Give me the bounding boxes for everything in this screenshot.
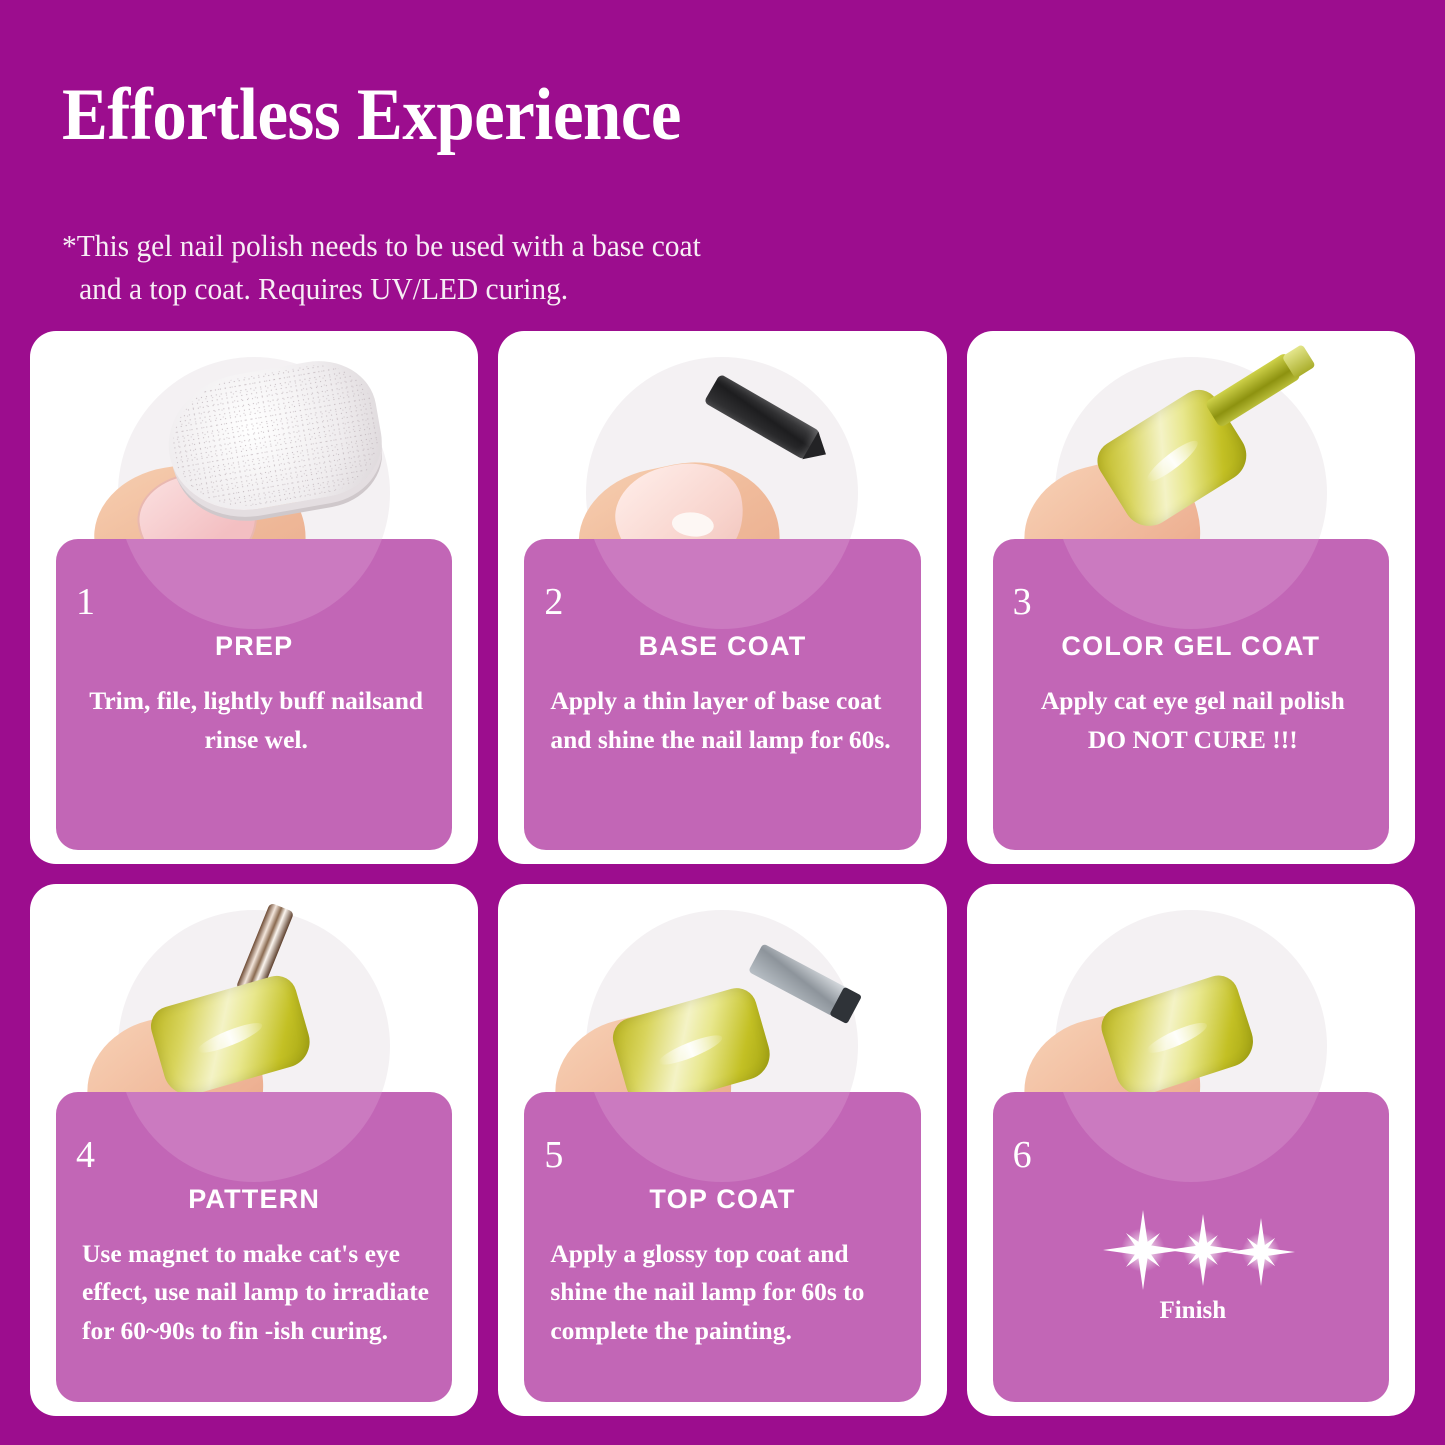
step-body: Apply a glossy top coat and shine the na… (550, 1235, 898, 1351)
step-title: BASE COAT (524, 631, 920, 662)
step-title: PREP (56, 631, 452, 662)
step-body: Use magnet to make cat's eye effect, use… (82, 1235, 430, 1351)
step-title: PATTERN (56, 1184, 452, 1215)
subtitle-line-1: *This gel nail polish needs to be used w… (62, 228, 701, 263)
cat-eye-nail-illustration (146, 971, 316, 1101)
step-title: TOP COAT (524, 1184, 920, 1215)
top-coat-brush-icon (748, 943, 848, 1016)
step-panel-5: 5 TOP COAT Apply a glossy top coat and s… (524, 1092, 920, 1403)
cat-eye-nail-illustration (1096, 970, 1259, 1101)
steps-grid: 1 PREP Trim, file, lightly buff nailsand… (30, 331, 1415, 1416)
step-body: Trim, file, lightly buff nailsand rinse … (82, 682, 430, 760)
step-panel-6: 6 (993, 1092, 1389, 1403)
step-number: 1 (76, 583, 95, 621)
step-panel-4: 4 PATTERN Use magnet to make cat's eye e… (56, 1092, 452, 1403)
page-title: Effortless Experience (62, 78, 1290, 152)
step-number: 2 (544, 583, 563, 621)
step-body: Apply a thin layer of base coat and shin… (550, 682, 898, 760)
step-number: 5 (544, 1136, 563, 1174)
step-panel-1: 1 PREP Trim, file, lightly buff nailsand… (56, 539, 452, 850)
step-panel-3: 3 COLOR GEL COAT Apply cat eye gel nail … (993, 539, 1389, 850)
color-gel-brush-icon (1204, 352, 1301, 428)
base-coat-brush-icon (704, 374, 823, 462)
step-panel-2: 2 BASE COAT Apply a thin layer of base c… (524, 539, 920, 850)
step-body: Apply cat eye gel nail polish DO NOT CUR… (1019, 682, 1367, 760)
step-card-5[interactable]: 5 TOP COAT Apply a glossy top coat and s… (498, 884, 946, 1417)
sparkle-icon (993, 1210, 1389, 1290)
step-title: COLOR GEL COAT (993, 631, 1389, 662)
step-number: 3 (1013, 583, 1032, 621)
instruction-infographic: Effortless Experience *This gel nail pol… (0, 0, 1445, 1445)
step-card-4[interactable]: 4 PATTERN Use magnet to make cat's eye e… (30, 884, 478, 1417)
step-card-2[interactable]: 2 BASE COAT Apply a thin layer of base c… (498, 331, 946, 864)
step-body: Finish (1019, 1292, 1367, 1330)
subtitle-line-2: and a top coat. Requires UV/LED curing. (62, 268, 1316, 311)
step-card-6[interactable]: 6 (967, 884, 1415, 1417)
page-subtitle: *This gel nail polish needs to be used w… (62, 182, 1316, 353)
step-number: 6 (1013, 1136, 1032, 1174)
header: Effortless Experience *This gel nail pol… (62, 78, 1382, 353)
step-card-1[interactable]: 1 PREP Trim, file, lightly buff nailsand… (30, 331, 478, 864)
step-number: 4 (76, 1136, 95, 1174)
step-card-3[interactable]: 3 COLOR GEL COAT Apply cat eye gel nail … (967, 331, 1415, 864)
